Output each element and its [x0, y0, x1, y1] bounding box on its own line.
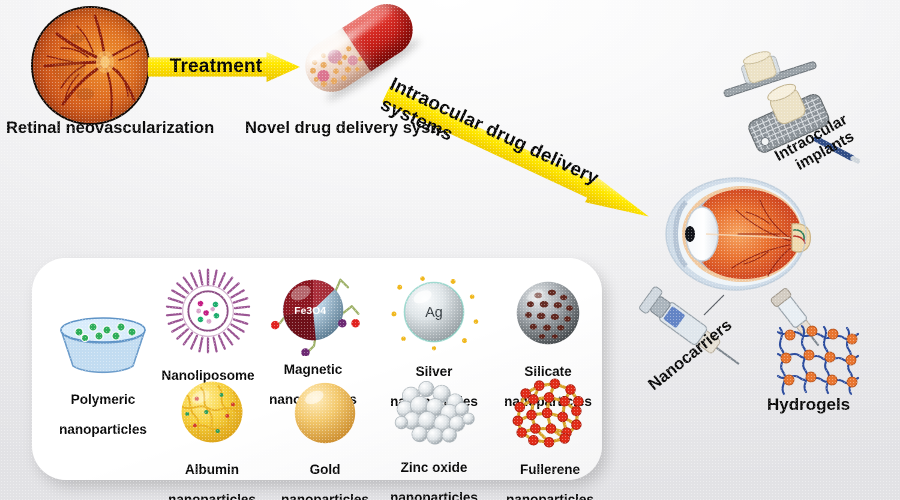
nanoparticle-types-panel: Polymeric nanoparticles [32, 258, 602, 480]
albumin-sphere-icon [168, 374, 256, 452]
caption-line1: Fullerene [520, 462, 580, 477]
treatment-arrow-label: Treatment [148, 52, 300, 82]
intraocular-arrow-label: Intraocular drug delivery systems [380, 81, 655, 229]
caption-line2: nanoparticles [390, 490, 478, 500]
magnetic-sphere-icon: Fe3O4 [261, 264, 365, 356]
hydrogel-mesh-illustration [772, 320, 862, 400]
caption-line2: nanoparticles [168, 492, 256, 500]
caption-line2: nanoparticles [59, 422, 147, 437]
caption-line1: Gold [310, 462, 341, 477]
caption-line2: nanoparticles [506, 492, 594, 500]
caption-line1: Albumin [185, 462, 239, 477]
graphical-abstract: Retinal neovascularization Treatment [0, 0, 900, 500]
nanoparticle-silicate: Silicate nanoparticles [484, 272, 612, 356]
zinc-cluster-icon [388, 376, 480, 450]
gold-sphere-icon [283, 376, 367, 452]
nanoparticle-silver: Ag Silver nanoparticles [370, 272, 498, 354]
retinal-fundus-image [33, 8, 148, 123]
liposome-icon [163, 266, 253, 356]
treatment-arrow: Treatment [148, 52, 300, 82]
fullerene-icon [506, 372, 594, 452]
nanoparticle-fullerene-caption: Fullerene nanoparticles [475, 448, 625, 500]
porous-sphere-icon [501, 272, 595, 356]
caption-line1: Polymeric [71, 392, 136, 407]
label-hydrogels: Hydrogels [767, 395, 850, 414]
caption-line1: Zinc oxide [401, 460, 468, 475]
nanoparticle-fullerene: Fullerene nanoparticles [480, 372, 620, 452]
caption-line2: nanoparticles [281, 492, 369, 500]
intraocular-delivery-arrow: Intraocular drug delivery systems [380, 81, 655, 229]
label-retinal-neovascularization: Retinal neovascularization [6, 119, 214, 138]
nanoparticle-magnetic: Fe3O4 Magnetic nanoparticles [248, 264, 378, 356]
svg-text:Ag: Ag [425, 305, 443, 321]
silver-sphere-icon: Ag [384, 272, 484, 354]
svg-text:Fe3O4: Fe3O4 [294, 306, 326, 317]
caption-line1: Magnetic [284, 362, 343, 377]
